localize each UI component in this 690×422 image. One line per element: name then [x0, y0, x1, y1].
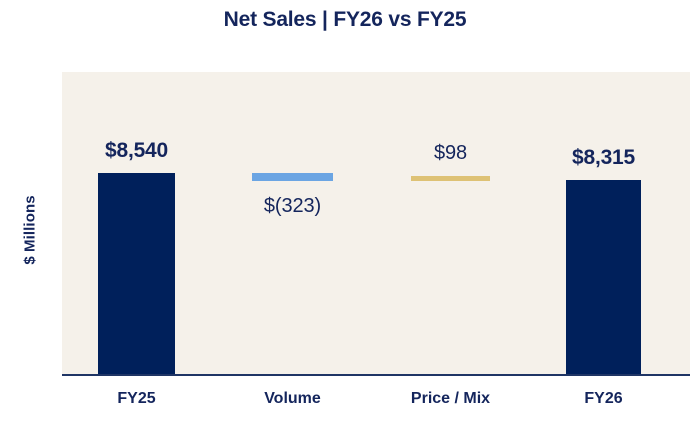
x-axis-line [62, 374, 690, 376]
bar-fy25[interactable] [98, 173, 175, 374]
data-label-price-mix: $98 [371, 143, 530, 163]
bar-fy26[interactable] [566, 180, 641, 374]
data-label-volume: $(323) [213, 196, 372, 216]
data-label-fy25: $8,540 [58, 140, 215, 161]
data-label-fy26: $8,315 [524, 147, 683, 168]
x-axis-tick-fy26: FY26 [524, 390, 683, 408]
chart-title: Net Sales | FY26 vs FY25 [0, 6, 690, 34]
bar-price-mix[interactable] [411, 176, 490, 181]
y-axis-label: $ Millions [22, 195, 39, 264]
x-axis-tick-volume: Volume [213, 390, 372, 408]
net-sales-waterfall-chart: Net Sales | FY26 vs FY25 $ Millions $8,5… [0, 0, 690, 422]
x-axis-tick-price-mix: Price / Mix [371, 390, 530, 408]
x-axis-tick-fy25: FY25 [58, 390, 215, 408]
y-axis-label-container: $ Millions [16, 150, 44, 310]
bar-volume[interactable] [252, 173, 333, 181]
